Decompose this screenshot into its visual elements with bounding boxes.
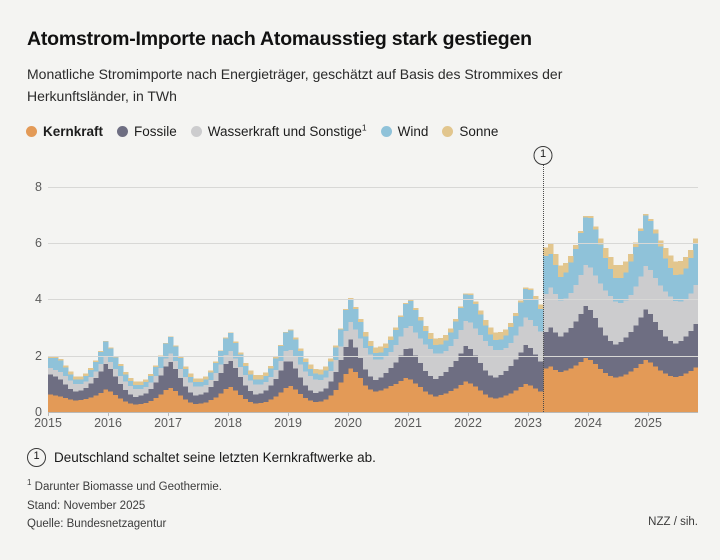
- chart-legend: KernkraftFossileWasserkraft und Sonstige…: [26, 124, 512, 139]
- x-tick-mark-2019: [288, 412, 289, 416]
- x-tick-mark-2021: [408, 412, 409, 416]
- x-tick-label-2019: 2019: [274, 416, 302, 430]
- annotation-marker-badge: 1: [27, 448, 46, 467]
- x-tick-label-2022: 2022: [454, 416, 482, 430]
- legend-item-label: Wasserkraft und Sonstige1: [208, 124, 367, 139]
- legend-swatch-icon: [381, 126, 392, 137]
- infographic-root: Atomstrom-Importe nach Atomausstieg star…: [0, 0, 720, 560]
- legend-item-label: Sonne: [459, 124, 498, 139]
- legend-superscript: 1: [362, 123, 367, 133]
- x-tick-label-2016: 2016: [94, 416, 122, 430]
- x-tick-mark-2025: [648, 412, 649, 416]
- gridline-0: [48, 412, 698, 413]
- gridline-8: [48, 187, 698, 188]
- legend-item-label: Fossile: [134, 124, 177, 139]
- y-tick-label-6: 6: [6, 236, 42, 250]
- annotation-vertical-line: [543, 164, 544, 412]
- x-tick-mark-2016: [108, 412, 109, 416]
- legend-item-label: Kernkraft: [43, 124, 103, 139]
- stacked-area-series: [48, 170, 698, 412]
- legend-item-label: Wind: [398, 124, 429, 139]
- plot-region: [48, 170, 698, 412]
- legend-swatch-icon: [191, 126, 202, 137]
- y-tick-label-2: 2: [6, 349, 42, 363]
- page-title: Atomstrom-Importe nach Atomausstieg star…: [27, 28, 687, 51]
- x-tick-label-2020: 2020: [334, 416, 362, 430]
- page-subtitle: Monatliche Stromimporte nach Energieträg…: [27, 64, 652, 107]
- x-tick-mark-2020: [348, 412, 349, 416]
- x-tick-mark-2022: [468, 412, 469, 416]
- x-tick-label-2017: 2017: [154, 416, 182, 430]
- chart-area: 02468 2015201620172018201920202021202220…: [0, 150, 720, 440]
- x-tick-mark-2017: [168, 412, 169, 416]
- legend-swatch-icon: [442, 126, 453, 137]
- x-tick-label-2015: 2015: [34, 416, 62, 430]
- x-tick-label-2024: 2024: [574, 416, 602, 430]
- legend-item-kernkraft[interactable]: Kernkraft: [26, 124, 103, 139]
- legend-item-sonne[interactable]: Sonne: [442, 124, 498, 139]
- legend-item-wasserkraft[interactable]: Wasserkraft und Sonstige1: [191, 124, 367, 139]
- y-tick-label-4: 4: [6, 292, 42, 306]
- x-tick-label-2023: 2023: [514, 416, 542, 430]
- x-tick-mark-2023: [528, 412, 529, 416]
- credit-line: NZZ / sih.: [648, 516, 698, 528]
- gridline-6: [48, 243, 698, 244]
- x-tick-label-2021: 2021: [394, 416, 422, 430]
- y-axis-labels: 02468: [0, 170, 42, 412]
- legend-swatch-icon: [26, 126, 37, 137]
- x-tick-mark-2015: [48, 412, 49, 416]
- footnotes-block: 1 Darunter Biomasse und Geothermie. Stan…: [27, 478, 647, 534]
- legend-item-wind[interactable]: Wind: [381, 124, 429, 139]
- x-tick-label-2018: 2018: [214, 416, 242, 430]
- annotation-note: 1 Deutschland schaltet seine letzten Ker…: [27, 448, 376, 467]
- x-tick-mark-2024: [588, 412, 589, 416]
- footnote-text: Darunter Biomasse und Geothermie.: [35, 481, 222, 493]
- legend-swatch-icon: [117, 126, 128, 137]
- gridline-4: [48, 299, 698, 300]
- annotation-marker-circle[interactable]: 1: [534, 146, 553, 165]
- x-tick-mark-2018: [228, 412, 229, 416]
- quelle-line: Quelle: Bundesnetzagentur: [27, 515, 647, 534]
- annotation-note-text: Deutschland schaltet seine letzten Kernk…: [54, 450, 376, 465]
- y-tick-label-8: 8: [6, 180, 42, 194]
- x-axis-labels: 2015201620172018201920202021202220232024…: [48, 416, 698, 438]
- footnote-marker: 1: [27, 478, 31, 487]
- legend-item-fossile[interactable]: Fossile: [117, 124, 177, 139]
- x-tick-label-2025: 2025: [634, 416, 662, 430]
- footnote-line: 1 Darunter Biomasse und Geothermie.: [27, 478, 647, 497]
- gridline-2: [48, 356, 698, 357]
- stand-line: Stand: November 2025: [27, 497, 647, 516]
